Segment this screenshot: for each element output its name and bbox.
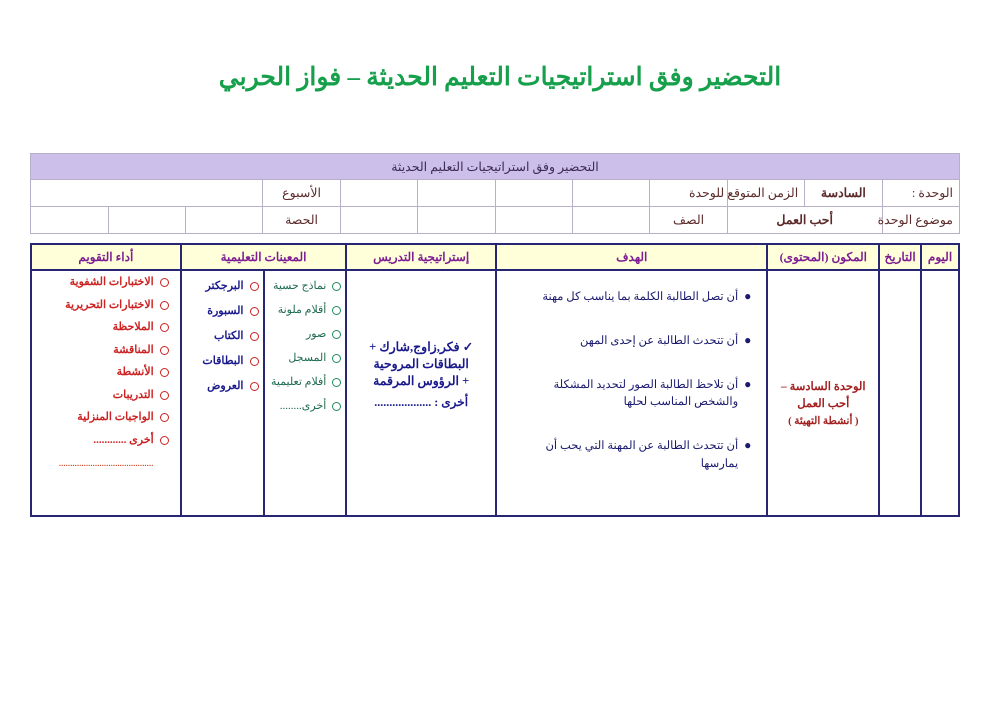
content-line-2: أحب العمل	[773, 396, 873, 413]
evaluation-option-label: التدريبات	[113, 390, 154, 401]
radio-circle-icon[interactable]	[160, 391, 169, 400]
column-header-aids: المعينات التعليمية	[182, 245, 346, 271]
aids-option[interactable]: العروض	[186, 381, 259, 392]
aids-option-label: المسجل	[288, 353, 326, 364]
evaluation-option-label: الملاحظة	[113, 322, 154, 333]
radio-circle-icon[interactable]	[160, 323, 169, 332]
strategy-text-2: البطاقات المروحية	[356, 356, 486, 373]
period-value-3[interactable]	[31, 207, 109, 234]
column-goal: الهدف ● أن تصل الطالبة الكلمة بما يناسب …	[495, 245, 766, 515]
aids-option-label: البطاقات	[202, 356, 243, 367]
aids-option-label: العروض	[207, 381, 243, 392]
class-value-1[interactable]	[572, 207, 649, 234]
column-day: اليوم	[920, 245, 958, 515]
aids-option[interactable]: صور	[269, 329, 342, 340]
unit-subject-label: موضوع الوحدة	[882, 207, 959, 234]
aids-option-label: نماذج حسية	[273, 281, 326, 292]
evaluation-option-label: المناقشة	[113, 345, 153, 356]
radio-circle-icon[interactable]	[160, 301, 169, 310]
radio-circle-icon[interactable]	[332, 402, 341, 411]
evaluation-option[interactable]: التدريبات	[37, 390, 169, 401]
page-title: التحضير وفق استراتيجيات التعليم الحديثة …	[0, 62, 1000, 92]
goal-text: أن تلاحظ الطالبة الصور لتحديد المشكلة وا…	[512, 377, 738, 413]
column-header-date: التاريخ	[880, 245, 920, 271]
header-banner: التحضير وفق استراتيجيات التعليم الحديثة	[31, 154, 960, 180]
cell-day-value[interactable]	[922, 271, 958, 515]
cell-goal-value[interactable]: ● أن تصل الطالبة الكلمة بما يناسب كل مهن…	[497, 271, 766, 515]
aids-green-list: نماذج حسية أقلام ملونة صور المسجل أفلام …	[269, 281, 342, 412]
bullet-icon: ●	[744, 438, 751, 454]
goal-text: أن تصل الطالبة الكلمة بما يناسب كل مهنة	[542, 289, 738, 307]
aids-option-label: أفلام تعليمية	[271, 377, 326, 388]
column-header-day: اليوم	[922, 245, 958, 271]
header-blank-u3[interactable]	[418, 180, 495, 207]
unit-subject-value[interactable]: أحب العمل	[727, 207, 882, 234]
column-content: المكون (المحتوى) الوحدة السادسة – أحب ال…	[766, 245, 878, 515]
bullet-icon: ●	[744, 289, 751, 305]
class-value-4[interactable]	[340, 207, 417, 234]
unit-label: الوحدة :	[882, 180, 959, 207]
column-header-goal: الهدف	[497, 245, 766, 271]
document-page: التحضير وفق استراتيجيات التعليم الحديثة …	[0, 0, 1000, 707]
unit-value[interactable]: السادسة	[805, 180, 882, 207]
cell-content-value[interactable]: الوحدة السادسة – أحب العمل ( أنشطة التهي…	[768, 271, 878, 515]
goal-item: ● أن تصل الطالبة الكلمة بما يناسب كل مهن…	[512, 289, 751, 307]
goal-text: أن تتحدث الطالبة عن المهنة التي يحب أن ي…	[512, 438, 738, 474]
radio-circle-icon[interactable]	[250, 332, 259, 341]
column-header-evaluation: أداء التقويم	[32, 245, 180, 271]
aids-option-label: أخرى........	[280, 401, 327, 412]
header-info-table: التحضير وفق استراتيجيات التعليم الحديثة …	[30, 153, 960, 234]
evaluation-option[interactable]: الأنشطة	[37, 367, 169, 378]
content-line-3: ( أنشطة التهيئة )	[773, 414, 873, 430]
evaluation-option[interactable]: الملاحظة	[37, 322, 169, 333]
week-value[interactable]	[31, 180, 263, 207]
aids-option[interactable]: أفلام تعليمية	[269, 377, 342, 388]
radio-circle-icon[interactable]	[160, 436, 169, 445]
goal-item: ● أن تلاحظ الطالبة الصور لتحديد المشكلة …	[512, 377, 751, 413]
aids-option[interactable]: المسجل	[269, 353, 342, 364]
radio-circle-icon[interactable]	[332, 354, 341, 363]
goal-item: ● أن تتحدث الطالبة عن المهنة التي يحب أن…	[512, 438, 751, 474]
radio-circle-icon[interactable]	[332, 282, 341, 291]
header-blank-u1[interactable]	[572, 180, 649, 207]
evaluation-option-label: الواجبات المنزلية	[77, 412, 153, 423]
aids-option-label: السبورة	[207, 306, 243, 317]
aids-option-label: الكتاب	[214, 331, 244, 342]
goal-item: ● أن تتحدث الطالبة عن إحدى المهن	[512, 333, 751, 351]
bullet-icon: ●	[744, 377, 751, 393]
content-text-block: الوحدة السادسة – أحب العمل ( أنشطة التهي…	[773, 379, 873, 429]
strategy-text-block: ✓ فكر,زاوج,شارك + البطاقات المروحية + ال…	[352, 339, 490, 390]
goal-list: ● أن تصل الطالبة الكلمة بما يناسب كل مهن…	[502, 277, 761, 474]
evaluation-option[interactable]: الاختبارات التحريرية	[37, 300, 169, 311]
evaluation-option[interactable]: أخرى ............	[37, 435, 169, 446]
strategy-text-1: فكر,زاوج,شارك +	[369, 340, 460, 354]
aids-blue-list: البرجكتر السبورة الكتاب البطاقات العروض	[186, 281, 259, 392]
evaluation-option-label: الاختبارات التحريرية	[65, 300, 154, 311]
strategy-text-3: + الرؤوس المرقمة	[356, 373, 486, 390]
evaluation-option-label: الاختبارات الشفوية	[70, 277, 154, 288]
radio-circle-icon[interactable]	[160, 368, 169, 377]
radio-circle-icon[interactable]	[332, 330, 341, 339]
aids-option[interactable]: البطاقات	[186, 356, 259, 367]
cell-evaluation-value: الاختبارات الشفوية الاختبارات التحريرية …	[32, 271, 180, 515]
goal-text: أن تتحدث الطالبة عن إحدى المهن	[580, 333, 738, 351]
radio-circle-icon[interactable]	[250, 282, 259, 291]
aids-blue-subcolumn: البرجكتر السبورة الكتاب البطاقات العروض	[182, 271, 263, 515]
aids-option[interactable]: البرجكتر	[186, 281, 259, 292]
column-header-content: المكون (المحتوى)	[768, 245, 878, 271]
column-date: التاريخ	[878, 245, 920, 515]
bullet-icon: ●	[744, 333, 751, 349]
evaluation-option[interactable]: الاختبارات الشفوية	[37, 277, 169, 288]
period-label: الحصة	[263, 207, 340, 234]
column-evaluation: أداء التقويم الاختبارات الشفوية الاختبار…	[32, 245, 180, 515]
aids-option-label: أقلام ملونة	[278, 305, 327, 316]
radio-circle-icon[interactable]	[250, 382, 259, 391]
cell-aids-value: نماذج حسية أقلام ملونة صور المسجل أفلام …	[182, 271, 346, 515]
evaluation-option-label: أخرى ............	[93, 435, 153, 446]
radio-circle-icon[interactable]	[250, 357, 259, 366]
period-value-2[interactable]	[108, 207, 185, 234]
cell-date-value[interactable]	[880, 271, 920, 515]
header-banner-row: التحضير وفق استراتيجيات التعليم الحديثة	[31, 154, 960, 180]
lesson-plan-grid: اليوم التاريخ المكون (المحتوى) الوحدة ال…	[30, 243, 960, 517]
strategy-line-1: ✓ فكر,زاوج,شارك +	[356, 339, 486, 356]
header-blank-u2[interactable]	[495, 180, 572, 207]
aids-option-label: البرجكتر	[205, 281, 243, 292]
aids-option[interactable]: نماذج حسية	[269, 281, 342, 292]
evaluation-option[interactable]: الواجبات المنزلية	[37, 412, 169, 423]
week-label: الأسبوع	[263, 180, 340, 207]
checkmark-icon: ✓	[463, 340, 473, 354]
radio-circle-icon[interactable]	[332, 306, 341, 315]
column-header-strategy: إستراتيجية التدريس	[347, 245, 495, 271]
evaluation-list: الاختبارات الشفوية الاختبارات التحريرية …	[37, 277, 175, 446]
class-value-2[interactable]	[495, 207, 572, 234]
evaluation-option-label: الأنشطة	[117, 367, 154, 378]
class-label: الصف	[650, 207, 727, 234]
aids-option[interactable]: السبورة	[186, 306, 259, 317]
radio-circle-icon[interactable]	[250, 307, 259, 316]
radio-circle-icon[interactable]	[160, 346, 169, 355]
expected-time-label: الزمن المتوقع للوحدة	[727, 180, 804, 207]
content-line-1: الوحدة السادسة –	[773, 379, 873, 396]
column-strategy: إستراتيجية التدريس ✓ فكر,زاوج,شارك + الب…	[345, 245, 495, 515]
radio-circle-icon[interactable]	[332, 378, 341, 387]
radio-circle-icon[interactable]	[160, 413, 169, 422]
period-value-1[interactable]	[185, 207, 262, 234]
strategy-other[interactable]: أخرى : ...................	[352, 395, 490, 410]
aids-option[interactable]: أقلام ملونة	[269, 305, 342, 316]
aids-option-label: صور	[306, 329, 326, 340]
aids-option[interactable]: الكتاب	[186, 331, 259, 342]
class-value-3[interactable]	[418, 207, 495, 234]
aids-green-subcolumn: نماذج حسية أقلام ملونة صور المسجل أفلام …	[263, 271, 346, 515]
column-aids: المعينات التعليمية نماذج حسية أقلام ملون…	[180, 245, 346, 515]
aids-option[interactable]: أخرى........	[269, 401, 342, 412]
header-row-subject: موضوع الوحدة أحب العمل الصف الحصة	[31, 207, 960, 234]
evaluation-option[interactable]: المناقشة	[37, 345, 169, 356]
header-blank-u4[interactable]	[340, 180, 417, 207]
header-row-unit: الوحدة : السادسة الزمن المتوقع للوحدة ال…	[31, 180, 960, 207]
radio-circle-icon[interactable]	[160, 278, 169, 287]
cell-strategy-value[interactable]: ✓ فكر,زاوج,شارك + البطاقات المروحية + ال…	[347, 271, 495, 515]
evaluation-dotted-line[interactable]: ........................................…	[37, 457, 175, 469]
